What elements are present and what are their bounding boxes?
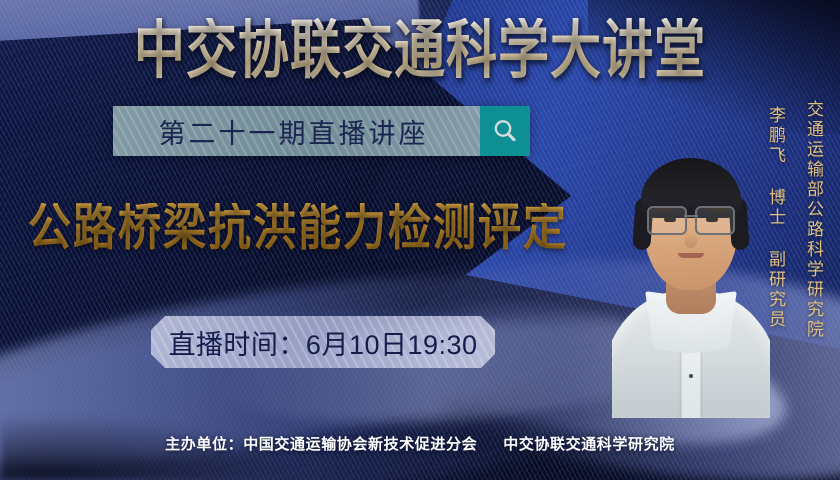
speaker-organization: 交通运输部公路科学研究院 [801,100,826,340]
footer-prefix: 主办单位： [165,436,243,453]
portrait-lens-left [647,206,687,235]
main-title: 中交协联交通科学大讲堂 [0,18,840,82]
subtitle-bar: 第二十一期直播讲座 [113,106,530,156]
speaker-portrait [612,118,770,418]
portrait-shirt-button-2 [689,374,693,378]
portrait-lens-right [695,206,735,235]
poster-canvas: 中交协联交通科学大讲堂 中交协联交通科学大讲堂 第二十一期直播讲座 公路桥梁抗洪… [0,0,840,480]
lecture-headline: 公路桥梁抗洪能力检测评定 [28,203,568,254]
portrait-glasses [645,206,737,232]
live-time-text: 直播时间：6月10日19:30 [168,323,477,362]
footer-org-1: 中国交通运输协会新技术促进分会 [243,436,477,453]
search-icon [491,117,519,145]
footer-org-2: 中交协联交通科学研究院 [503,436,675,453]
speaker-name-title: 李鹏飞 博士 副研究员 [763,106,788,330]
subtitle-bar-body: 第二十一期直播讲座 [113,106,480,156]
live-time-chip: 直播时间：6月10日19:30 [151,316,495,368]
portrait-nose [685,232,698,248]
subtitle-label: 第二十一期直播讲座 [159,112,435,151]
portrait-mouth [678,253,704,258]
footer-organizers: 主办单位：中国交通运输协会新技术促进分会中交协联交通科学研究院 [0,433,840,454]
portrait-glasses-bridge [684,215,698,217]
search-icon-box[interactable] [480,106,530,156]
